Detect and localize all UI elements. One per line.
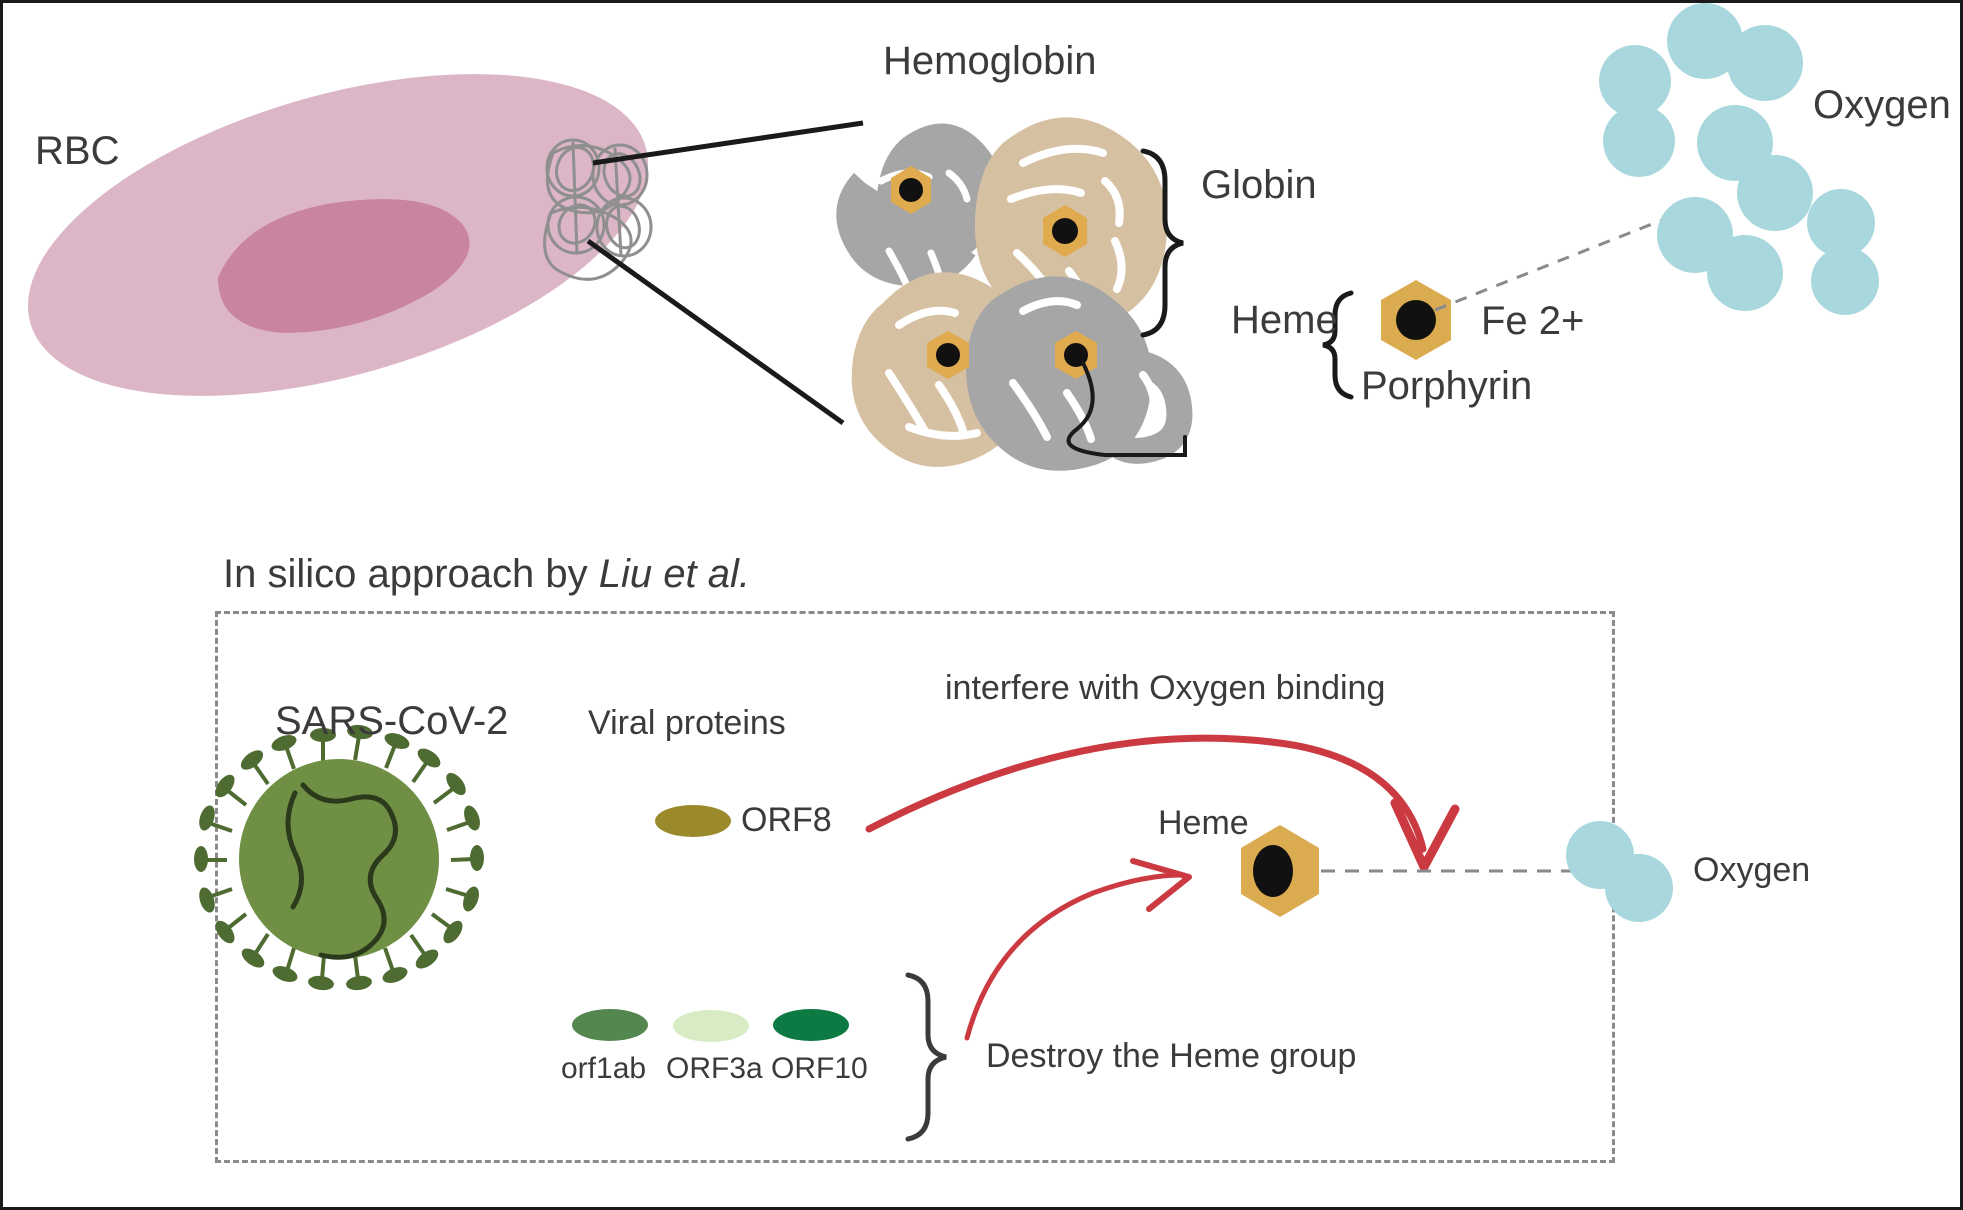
destroy-heme-label: Destroy the Heme group	[986, 1039, 1356, 1073]
oxygen-molecule-bottom	[1566, 821, 1673, 922]
destroy-heme-red-arrow	[967, 861, 1189, 1038]
viral-proteins-brace	[908, 975, 946, 1139]
figure-canvas: RBC Hemoglobin Globin Heme Fe 2+ Porphyr…	[0, 0, 1963, 1210]
heme-label-bottom: Heme	[1158, 806, 1249, 840]
oxygen-label-bottom: Oxygen	[1693, 853, 1810, 887]
orf1ab-label: orf1ab	[561, 1054, 646, 1084]
sars-cov-2-virion	[194, 723, 484, 991]
orf3a-protein-glyph	[673, 1010, 749, 1042]
orf8-protein-glyph	[655, 805, 731, 837]
sars-cov-2-label: SARS-CoV-2	[275, 701, 508, 741]
interfere-red-arrow	[869, 738, 1455, 867]
heme-hexagon-bottom	[1241, 825, 1319, 917]
orf3a-label: ORF3a	[666, 1054, 763, 1084]
orf10-label: ORF10	[771, 1054, 868, 1084]
orf10-protein-glyph	[773, 1009, 849, 1041]
interfere-label: interfere with Oxygen binding	[945, 671, 1385, 705]
bottom-graphics-layer	[3, 3, 1963, 1210]
orf1ab-protein-glyph	[572, 1009, 648, 1041]
viral-proteins-label: Viral proteins	[588, 706, 786, 740]
orf8-label: ORF8	[741, 803, 832, 837]
